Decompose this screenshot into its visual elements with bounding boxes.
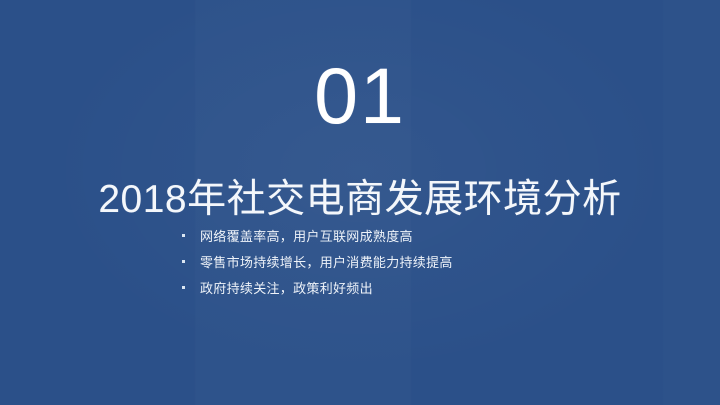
- section-number: 01: [0, 56, 720, 135]
- presentation-slide: 01 2018年社交电商发展环境分析 网络覆盖率高，用户互联网成熟度高 零售市场…: [0, 0, 720, 405]
- slide-content: 01 2018年社交电商发展环境分析 网络覆盖率高，用户互联网成熟度高 零售市场…: [0, 0, 720, 405]
- page-title: 2018年社交电商发展环境分析: [0, 178, 720, 222]
- square-bullet-icon: [182, 234, 185, 237]
- list-item: 零售市场持续增长，用户消费能力持续提高: [182, 250, 453, 276]
- square-bullet-icon: [182, 260, 185, 263]
- list-item: 政府持续关注，政策利好频出: [182, 276, 453, 302]
- bullet-list: 网络覆盖率高，用户互联网成熟度高 零售市场持续增长，用户消费能力持续提高 政府持…: [182, 224, 453, 302]
- list-item-label: 政府持续关注，政策利好频出: [200, 276, 373, 302]
- list-item: 网络覆盖率高，用户互联网成熟度高: [182, 224, 453, 250]
- list-item-label: 网络覆盖率高，用户互联网成熟度高: [200, 224, 413, 250]
- square-bullet-icon: [182, 286, 185, 289]
- list-item-label: 零售市场持续增长，用户消费能力持续提高: [200, 250, 453, 276]
